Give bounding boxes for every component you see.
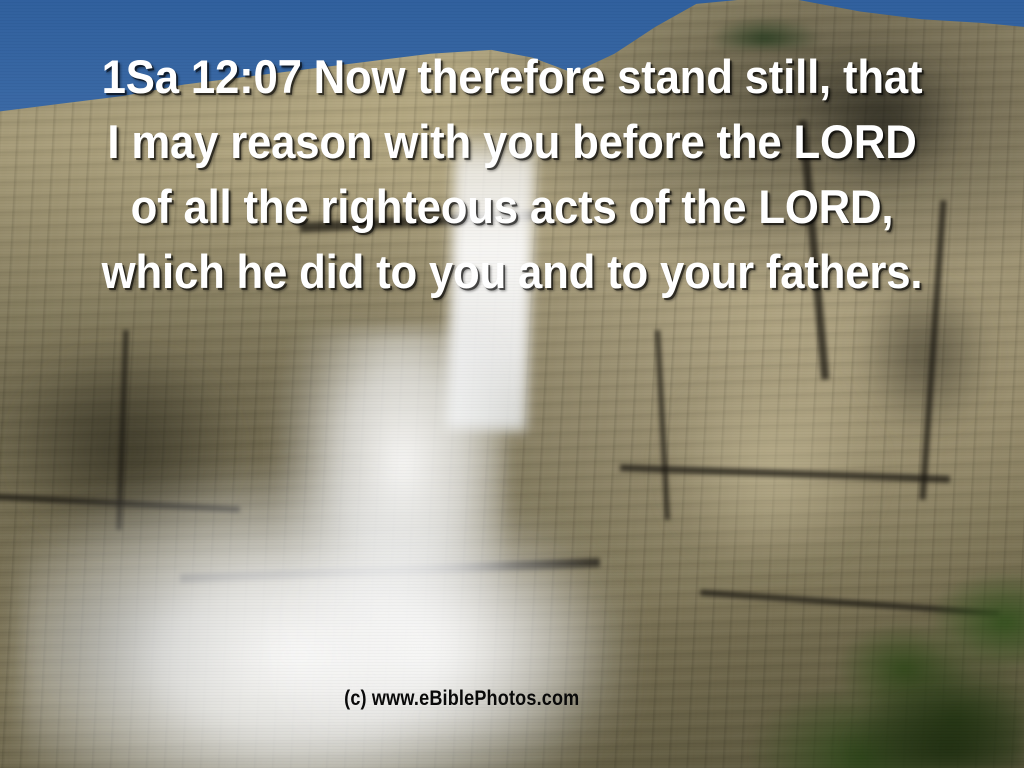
verse-text-block: 1Sa 12:07 Now therefore stand still, tha… bbox=[0, 44, 1024, 304]
watermark-text: (c) www.eBiblePhotos.com bbox=[344, 687, 579, 711]
watermark: (c) www.eBiblePhotos.com bbox=[0, 687, 1024, 711]
verse-line-2: I may reason with you before the LORD bbox=[60, 109, 964, 174]
verse-line-3: of all the righteous acts of the LORD, bbox=[60, 174, 964, 239]
verse-line-1: 1Sa 12:07 Now therefore stand still, tha… bbox=[60, 44, 964, 109]
verse-line-4: which he did to you and to your fathers. bbox=[60, 239, 964, 304]
verse-photo-canvas: 1Sa 12:07 Now therefore stand still, tha… bbox=[0, 0, 1024, 768]
vegetation-ridge-top bbox=[690, 0, 840, 48]
